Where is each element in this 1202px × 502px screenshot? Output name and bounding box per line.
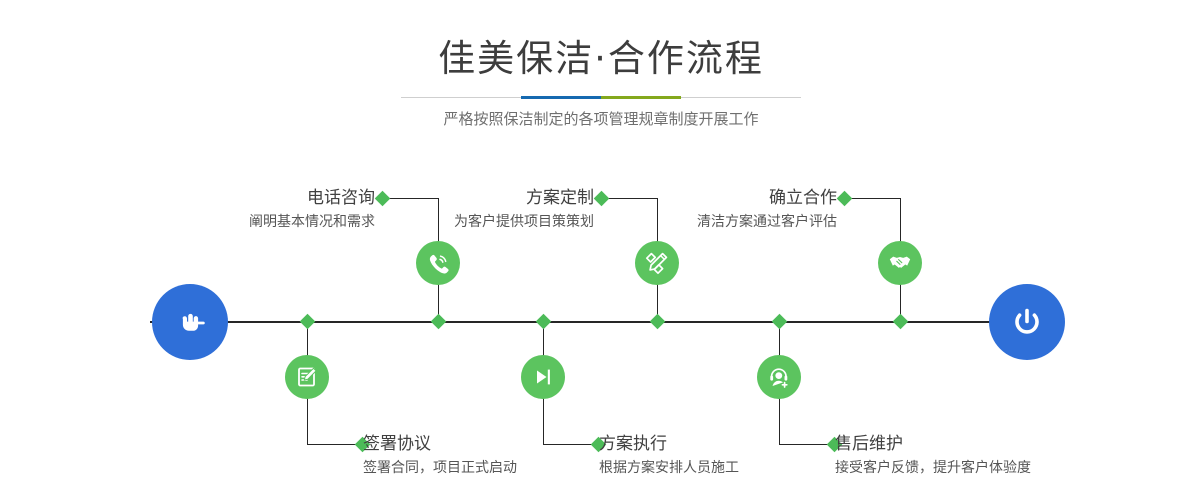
step-label-1: 电话咨询 阐明基本情况和需求 <box>160 186 375 234</box>
step-label-5: 确立合作 清洁方案通过客户评估 <box>625 186 837 234</box>
step-node-2[interactable] <box>285 355 329 399</box>
pencil-ruler-icon <box>644 250 670 276</box>
phone-call-icon <box>425 250 451 276</box>
step-title-3: 方案定制 <box>380 186 594 210</box>
title-divider <box>401 96 801 99</box>
marker-label-step-3 <box>594 191 610 207</box>
step-desc-6: 接受客户反馈，提升客户体验度 <box>835 456 1115 480</box>
step-title-6: 售后维护 <box>835 432 1115 456</box>
divider-segment-blue <box>521 96 601 99</box>
flowchart-page: 佳美保洁·合作流程 严格按照保洁制定的各项管理规章制度开展工作 <box>0 0 1202 502</box>
step-node-6[interactable] <box>757 355 801 399</box>
connector-horizontal-step-5 <box>845 198 901 199</box>
step-desc-1: 阐明基本情况和需求 <box>160 210 375 234</box>
step-title-5: 确立合作 <box>625 186 837 210</box>
marker-axis-step-6 <box>772 314 788 330</box>
step-desc-4: 根据方案安排人员施工 <box>599 456 859 480</box>
timeline-axis <box>150 321 1052 323</box>
step-node-5[interactable] <box>878 241 922 285</box>
step-desc-3: 为客户提供项目策策划 <box>380 210 594 234</box>
marker-axis-step-3 <box>650 314 666 330</box>
play-execute-icon <box>530 364 556 390</box>
timeline-start-node[interactable] <box>152 284 228 360</box>
step-node-3[interactable] <box>635 241 679 285</box>
step-node-1[interactable] <box>416 241 460 285</box>
divider-segment-green <box>601 96 681 99</box>
document-pen-icon <box>294 364 320 390</box>
step-title-1: 电话咨询 <box>160 186 375 210</box>
step-label-3: 方案定制 为客户提供项目策策划 <box>380 186 594 234</box>
page-title: 佳美保洁·合作流程 <box>0 36 1202 82</box>
handshake-icon <box>887 250 913 276</box>
power-icon <box>1007 302 1047 342</box>
support-agent-icon <box>766 364 792 390</box>
step-label-4: 方案执行 根据方案安排人员施工 <box>599 432 859 480</box>
page-subtitle: 严格按照保洁制定的各项管理规章制度开展工作 <box>0 106 1202 132</box>
step-label-2: 签署协议 签署合同，项目正式启动 <box>363 432 623 480</box>
marker-label-step-5 <box>837 191 853 207</box>
step-desc-5: 清洁方案通过客户评估 <box>625 210 837 234</box>
timeline-end-node[interactable] <box>989 284 1065 360</box>
marker-axis-step-4 <box>536 314 552 330</box>
step-label-6: 售后维护 接受客户反馈，提升客户体验度 <box>835 432 1115 480</box>
marker-axis-step-5 <box>893 314 909 330</box>
pointing-hand-icon <box>170 302 210 342</box>
marker-axis-step-2 <box>300 314 316 330</box>
step-desc-2: 签署合同，项目正式启动 <box>363 456 623 480</box>
marker-axis-step-1 <box>431 314 447 330</box>
step-node-4[interactable] <box>521 355 565 399</box>
